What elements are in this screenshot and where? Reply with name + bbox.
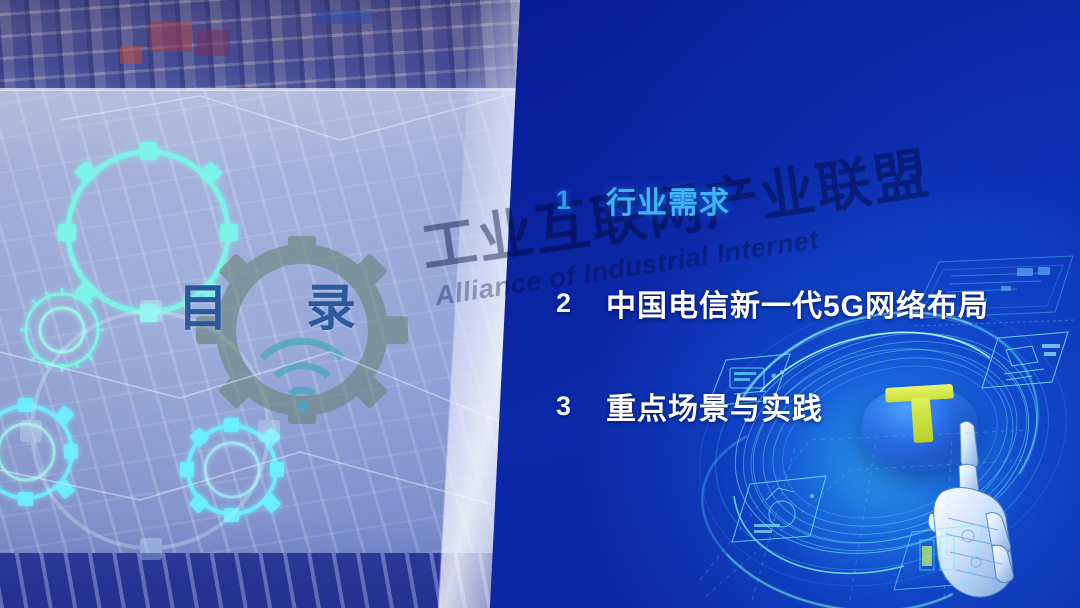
machine-accent-magenta bbox=[196, 30, 230, 56]
toc-item-1-number: 1 bbox=[556, 185, 606, 216]
toc-item-3-label: 重点场景与实践 bbox=[606, 384, 823, 428]
toc-item-1-label: 行业需求 bbox=[606, 178, 730, 222]
toc-item-2-label: 中国电信新一代5G网络布局 bbox=[606, 281, 989, 325]
toc-item-3-number: 3 bbox=[556, 391, 606, 422]
industrial-photo-top-band bbox=[0, 0, 520, 90]
table-of-contents-list: 1 行业需求 2 中国电信新一代5G网络布局 3 重点场景与实践 bbox=[556, 178, 1076, 428]
toc-item-2[interactable]: 2 中国电信新一代5G网络布局 bbox=[556, 281, 1076, 325]
machine-accent-blue bbox=[316, 10, 372, 24]
page-title: 目 录 bbox=[178, 268, 370, 340]
toc-item-1[interactable]: 1 行业需求 bbox=[556, 178, 1076, 222]
presentation-slide: 目 录 工业互联网产业联盟 Alliance of Industrial Int… bbox=[0, 0, 1080, 608]
toc-item-2-number: 2 bbox=[556, 288, 606, 319]
toc-item-3[interactable]: 3 重点场景与实践 bbox=[556, 384, 1076, 428]
machine-accent-red bbox=[150, 22, 192, 52]
machine-accent-orange bbox=[120, 46, 142, 64]
